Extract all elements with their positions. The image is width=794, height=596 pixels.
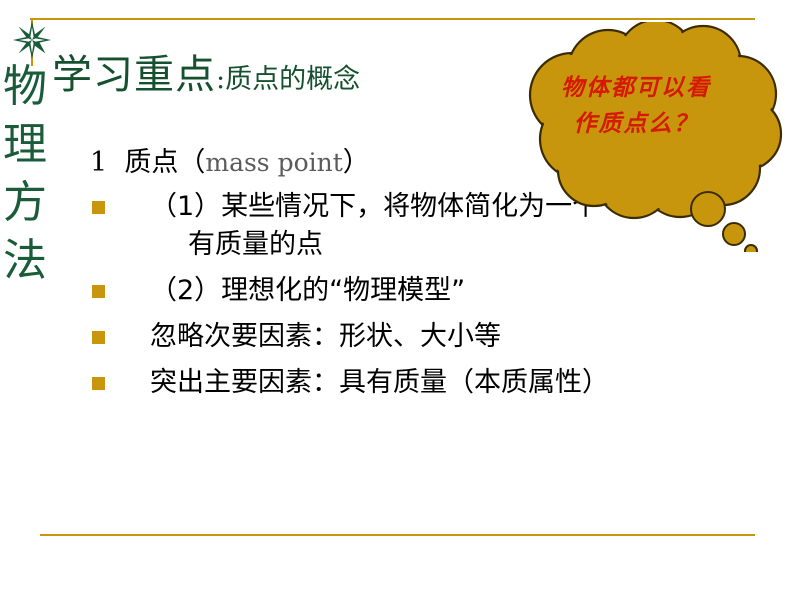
vertical-side-label: 物 理 方 法 bbox=[2, 58, 48, 290]
thought-bubble: 物体都可以看 作质点么？ bbox=[498, 22, 794, 252]
page-title-separator: : bbox=[216, 64, 225, 95]
lead-open-paren: （ bbox=[178, 147, 205, 178]
bullet-square-icon bbox=[92, 331, 105, 344]
page-title-subtitle: 质点的概念 bbox=[225, 64, 360, 95]
bullet-square-icon bbox=[92, 377, 105, 390]
list-item: 忽略次要因素：形状、大小等 bbox=[88, 318, 708, 356]
bullet-line: （2）理想化的“物理模型” bbox=[150, 272, 708, 310]
bullet-line: 忽略次要因素：形状、大小等 bbox=[150, 318, 708, 356]
side-label-char-1: 理 bbox=[2, 116, 48, 174]
side-label-char-3: 法 bbox=[2, 232, 48, 290]
top-divider-rule bbox=[30, 18, 755, 20]
bullet-square-icon bbox=[92, 285, 105, 298]
lead-english-term: mass point bbox=[205, 148, 342, 177]
tail-bubble-small bbox=[745, 245, 757, 252]
tail-bubble-medium bbox=[723, 223, 745, 245]
page-title-main: 学习重点 bbox=[52, 52, 216, 98]
lead-term: 质点 bbox=[124, 147, 178, 178]
bullet-square-icon bbox=[92, 201, 105, 214]
side-label-char-2: 方 bbox=[2, 174, 48, 232]
lead-close-paren: ） bbox=[343, 147, 370, 178]
bullet-line: 突出主要因素：具有质量（本质属性） bbox=[150, 364, 708, 402]
lead-number: 1 bbox=[90, 147, 107, 178]
page-title: 学习重点:质点的概念 bbox=[52, 42, 360, 100]
side-label-char-0: 物 bbox=[2, 58, 48, 116]
list-item: （2）理想化的“物理模型” bbox=[88, 272, 708, 310]
slide-canvas: 物 理 方 法 学习重点:质点的概念 1 质点（mass point） （1）某… bbox=[0, 0, 794, 596]
bottom-divider-rule bbox=[40, 534, 755, 536]
tail-bubble-large bbox=[691, 192, 725, 226]
list-item: 突出主要因素：具有质量（本质属性） bbox=[88, 364, 708, 402]
eight-point-star-icon bbox=[12, 20, 52, 60]
